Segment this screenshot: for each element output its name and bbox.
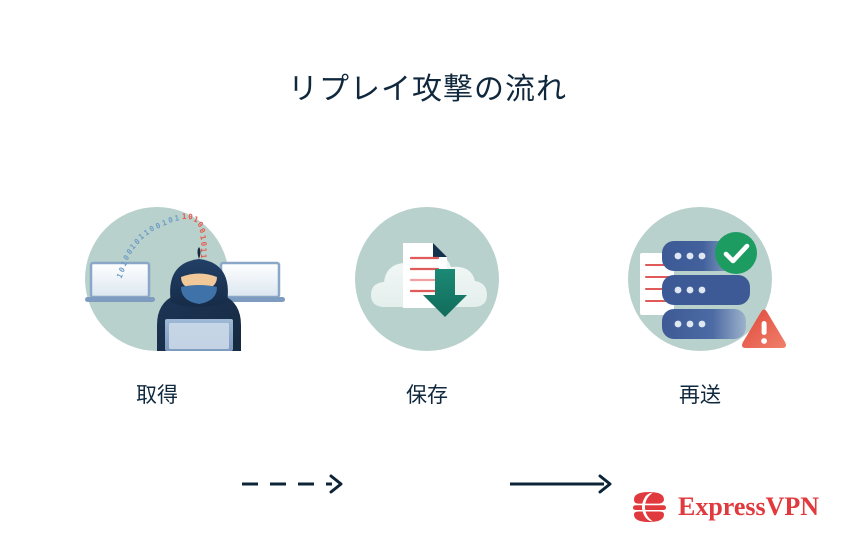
replay-attack-flow: 1 0 1 0 0 1 0 1 1 0 0 1 0 1 1	[0, 207, 855, 352]
step-label-capture: 取得	[45, 382, 269, 410]
expressvpn-wordmark: ExpressVPN	[678, 492, 819, 522]
server-replay-icon	[628, 207, 772, 351]
warning-triangle-icon	[742, 310, 786, 349]
flow-step-store: 保存	[355, 207, 499, 351]
cloud-download-icon	[355, 207, 499, 351]
arrow-store-to-resend	[508, 471, 620, 497]
flow-step-capture: 1 0 1 0 0 1 0 1 1 0 0 1 0 1 1	[85, 207, 229, 351]
page-title: リプレイ攻撃の流れ	[0, 70, 855, 110]
arrow-capture-to-store	[240, 471, 352, 497]
expressvpn-logo-icon	[630, 490, 668, 524]
svg-text:1: 1	[199, 254, 208, 259]
expressvpn-logo: ExpressVPN	[630, 486, 800, 528]
step-label-resend: 再送	[588, 382, 812, 410]
step-label-store: 保存	[315, 382, 539, 410]
svg-text:0: 0	[167, 215, 174, 225]
flow-step-resend: 再送	[628, 207, 772, 351]
svg-text:0: 0	[199, 241, 209, 247]
check-badge-icon	[715, 232, 757, 274]
svg-text:1: 1	[174, 213, 180, 223]
svg-text:1: 1	[182, 212, 187, 221]
hacker-intercept-icon: 1 0 1 0 0 1 0 1 1 0 0 1 0 1 1	[85, 207, 229, 351]
